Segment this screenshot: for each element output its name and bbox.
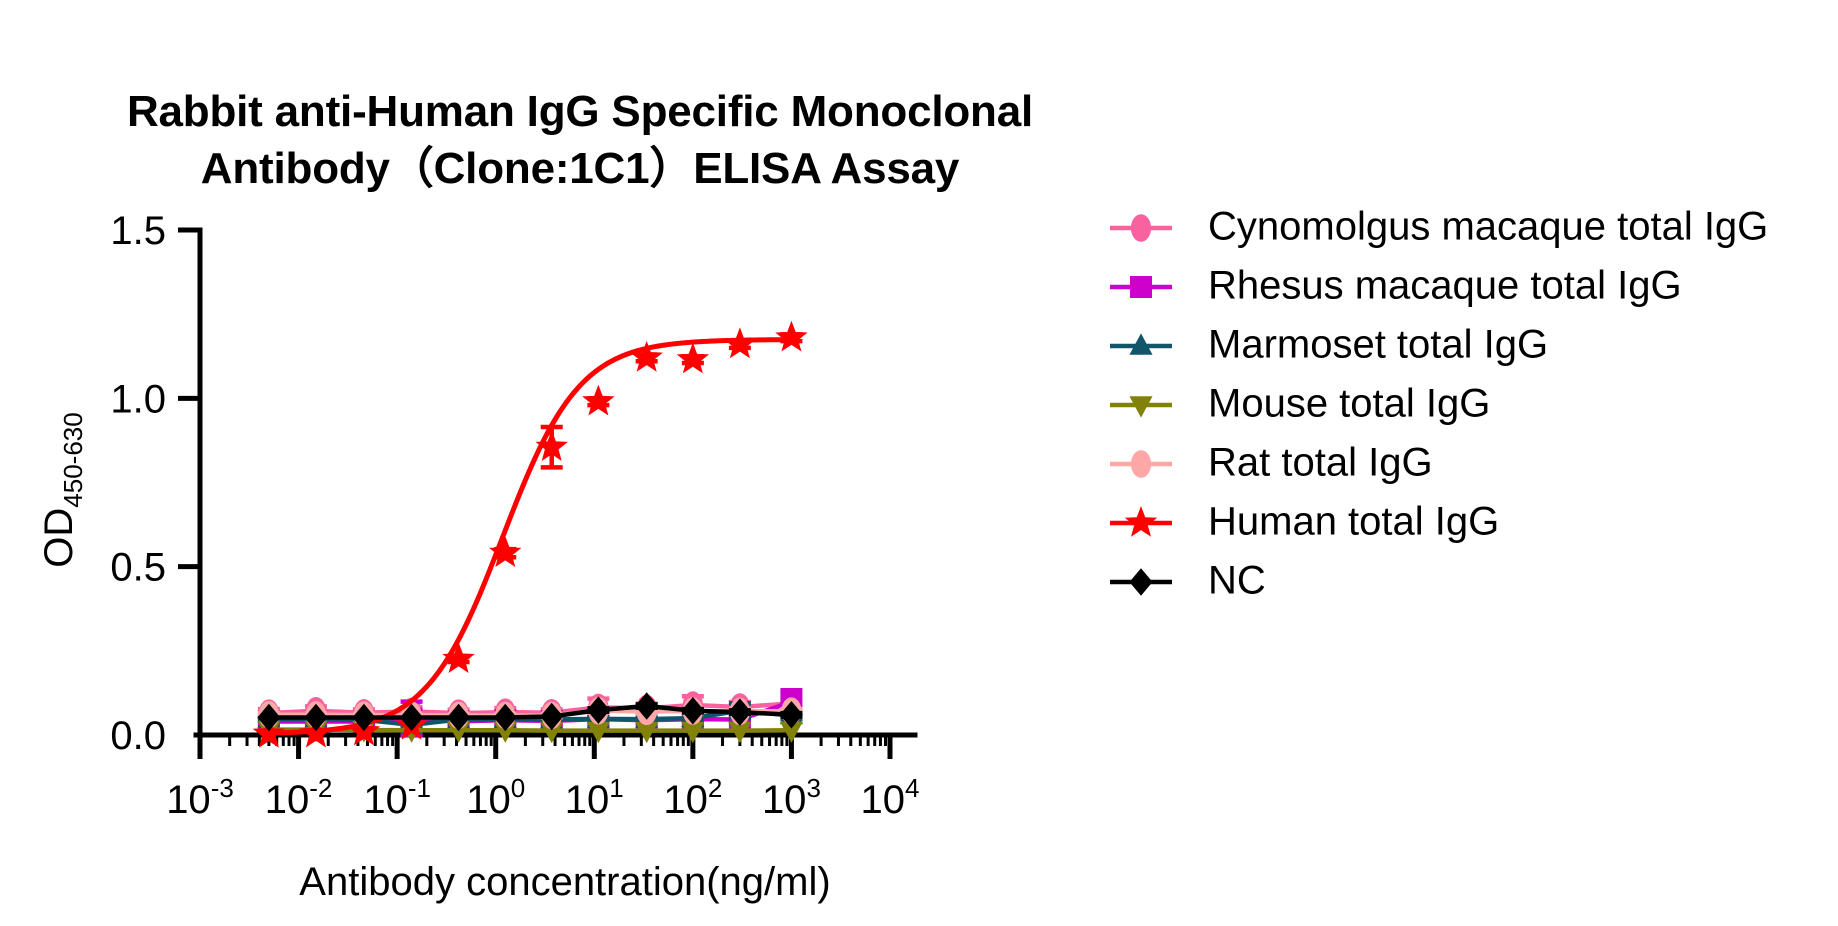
diamond-marker-icon (1129, 568, 1152, 596)
legend-group: Cynomolgus macaque total IgGRhesus macaq… (1110, 205, 1768, 603)
legend-item-label: Rat total IgG (1208, 441, 1433, 485)
legend-item-label: Marmoset total IgG (1208, 323, 1548, 367)
star-marker-icon (1125, 506, 1157, 537)
chart-page: Rabbit anti-Human IgG Specific Monoclona… (0, 0, 1838, 926)
x-axis-title: Antibody concentration(ng/ml) (299, 860, 830, 904)
series-human-total-igg (253, 321, 808, 748)
legend-item-label: Human total IgG (1208, 500, 1499, 544)
legend-item-cynomolgus-macaque-total-igg[interactable]: Cynomolgus macaque total IgG (1110, 205, 1768, 249)
legend-item-rat-total-igg[interactable]: Rat total IgG (1110, 441, 1433, 485)
square-marker-icon (1130, 276, 1152, 298)
legend-item-label: Mouse total IgG (1208, 382, 1490, 426)
x-axis-tick-label: 102 (663, 773, 722, 822)
x-axis-tick-label: 10-3 (166, 773, 234, 822)
data-point-marker (582, 385, 614, 416)
data-point-marker (724, 327, 756, 358)
x-axis-tick-label: 104 (861, 773, 920, 822)
x-axis-tick-label: 101 (565, 773, 624, 822)
circle-marker-icon (1131, 214, 1151, 242)
data-point-marker (442, 642, 474, 673)
legend-item-marmoset-total-igg[interactable]: Marmoset total IgG (1110, 323, 1548, 367)
y-axis-tick-label: 1.0 (110, 377, 166, 421)
legend-item-label: Cynomolgus macaque total IgG (1208, 205, 1768, 249)
legend-item-label: Rhesus macaque total IgG (1208, 264, 1682, 308)
x-axis-tick-label: 103 (762, 773, 821, 822)
data-point-marker (775, 321, 807, 352)
x-axis-tick-label: 100 (466, 773, 525, 822)
series-line (269, 340, 791, 734)
legend-item-human-total-igg[interactable]: Human total IgG (1110, 500, 1499, 544)
series-group (253, 321, 808, 748)
legend-item-nc[interactable]: NC (1110, 559, 1266, 603)
plot-container: 0.00.51.01.5OD450-63010-310-210-11001011… (0, 0, 1838, 926)
y-axis-tick-label: 0.5 (110, 546, 166, 590)
elisa-assay-chart: 0.00.51.01.5OD450-63010-310-210-11001011… (0, 0, 1838, 926)
circle-marker-icon (1131, 450, 1151, 478)
data-point-marker (677, 343, 709, 374)
legend-item-mouse-total-igg[interactable]: Mouse total IgG (1110, 382, 1490, 426)
legend-item-label: NC (1208, 559, 1266, 603)
y-axis-title: OD450-630 (37, 412, 88, 567)
y-axis-tick-label: 1.5 (110, 209, 166, 253)
x-axis-tick-label: 10-1 (363, 773, 431, 822)
legend-item-rhesus-macaque-total-igg[interactable]: Rhesus macaque total IgG (1110, 264, 1682, 308)
x-axis-tick-label: 10-2 (265, 773, 333, 822)
axes-group: 0.00.51.01.5OD450-63010-310-210-11001011… (37, 209, 919, 904)
y-axis-tick-label: 0.0 (110, 714, 166, 758)
